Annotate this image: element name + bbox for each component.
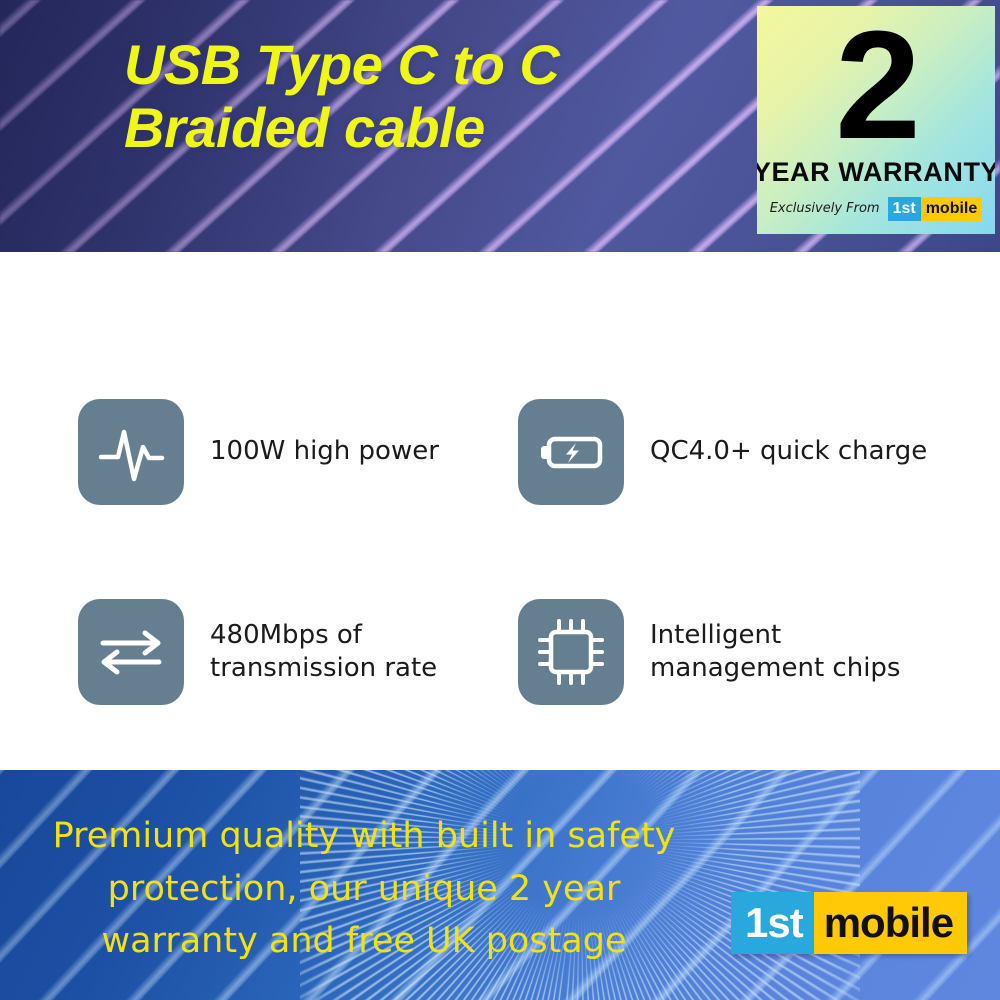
- feature-item-high-power: 100W high power: [78, 352, 518, 552]
- pulse-waveform-icon: [78, 399, 184, 505]
- feature-label: 480Mbps of transmission rate: [210, 619, 437, 686]
- warranty-years-number: 2: [835, 10, 917, 161]
- features-section: 100W high power QC4.0+ quick charge: [0, 252, 1000, 770]
- feature-label: 100W high power: [210, 435, 439, 468]
- brand-logo-mobile: mobile: [814, 892, 967, 954]
- product-infographic: USB Type C to C Braided cable 2 YEAR WAR…: [0, 0, 1000, 1000]
- bidirectional-arrows-icon: [78, 599, 184, 705]
- chip-icon: [518, 599, 624, 705]
- brand-logo-1st: 1st: [731, 892, 814, 954]
- exclusively-from-label: Exclusively From: [770, 201, 880, 216]
- features-grid: 100W high power QC4.0+ quick charge: [78, 352, 958, 752]
- feature-item-transmission-rate: 480Mbps of transmission rate: [78, 552, 518, 752]
- badge-logo-mobile: mobile: [921, 197, 983, 221]
- badge-brand-logo: 1st mobile: [888, 197, 983, 221]
- bottom-banner: Premium quality with built in safety pro…: [0, 770, 1000, 1000]
- title-line-2: Braided cable: [124, 97, 744, 160]
- page-title: USB Type C to C Braided cable: [124, 34, 744, 159]
- badge-logo-1st: 1st: [888, 197, 921, 221]
- feature-label: QC4.0+ quick charge: [650, 435, 927, 468]
- brand-logo: 1st mobile: [731, 892, 967, 954]
- battery-bolt-icon: [518, 399, 624, 505]
- feature-label: Intelligent management chips: [650, 619, 900, 686]
- title-line-1: USB Type C to C: [124, 34, 744, 97]
- feature-item-quick-charge: QC4.0+ quick charge: [518, 352, 958, 552]
- feature-item-management-chips: Intelligent management chips: [518, 552, 958, 752]
- warranty-badge: 2 YEAR WARRANTY Exclusively From 1st mob…: [757, 6, 995, 234]
- banner-promo-text: Premium quality with built in safety pro…: [44, 810, 684, 968]
- warranty-label: YEAR WARRANTY: [757, 157, 995, 188]
- badge-footer: Exclusively From 1st mobile: [770, 197, 983, 221]
